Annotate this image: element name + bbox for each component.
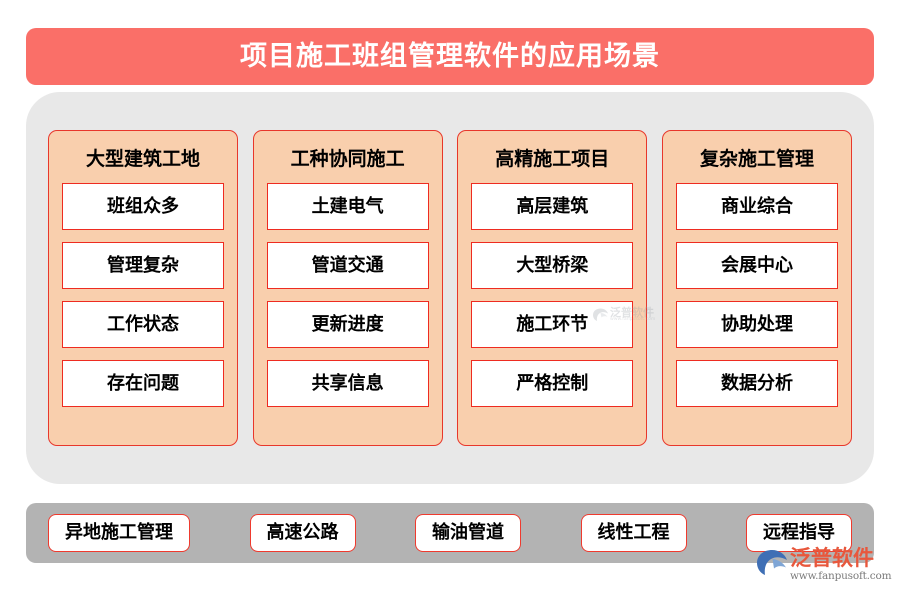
column-item-label: 严格控制 [516,375,588,393]
column-item-label: 高层建筑 [516,198,588,216]
column-item[interactable]: 共享信息 [267,360,429,407]
column-item[interactable]: 土建电气 [267,183,429,230]
bottom-tag-label: 高速公路 [267,524,339,542]
fanpu-swoosh-logo-icon [755,549,789,577]
brand-logo: 泛普软件 www.fanpusoft.com [755,547,895,595]
column-item-label: 大型桥梁 [516,257,588,275]
bottom-tag-label: 线性工程 [598,524,670,542]
column-item[interactable]: 管道交通 [267,242,429,289]
column-item-label: 施工环节 [516,316,588,334]
logo-url: www.fanpusoft.com [790,570,891,582]
column-item[interactable]: 工作状态 [62,301,224,348]
column-title: 大型建筑工地 [62,140,224,183]
scenario-column-3[interactable]: 高精施工项目 高层建筑 大型桥梁 施工环节 严格控制 [457,130,647,446]
column-item-list: 高层建筑 大型桥梁 施工环节 严格控制 [471,183,633,407]
logo-textblock: 泛普软件 www.fanpusoft.com [790,547,891,582]
column-item-list: 班组众多 管理复杂 工作状态 存在问题 [62,183,224,407]
page-title-bar: 项目施工班组管理软件的应用场景 [26,28,874,85]
column-title: 高精施工项目 [471,140,633,183]
scenario-column-1[interactable]: 大型建筑工地 班组众多 管理复杂 工作状态 存在问题 [48,130,238,446]
column-item[interactable]: 班组众多 [62,183,224,230]
column-item[interactable]: 更新进度 [267,301,429,348]
column-item-label: 共享信息 [312,375,384,393]
column-item-label: 商业综合 [721,198,793,216]
column-item-list: 商业综合 会展中心 协助处理 数据分析 [676,183,838,407]
column-item-label: 管理复杂 [107,257,179,275]
column-item[interactable]: 施工环节 [471,301,633,348]
bottom-tag-4[interactable]: 线性工程 [581,514,687,552]
column-item-label: 管道交通 [312,257,384,275]
page-title: 项目施工班组管理软件的应用场景 [240,43,660,70]
application-scenario-infographic: 项目施工班组管理软件的应用场景 大型建筑工地 班组众多 管理复杂 工作状态 [0,0,900,600]
column-item-label: 数据分析 [721,375,793,393]
column-item-list: 土建电气 管道交通 更新进度 共享信息 [267,183,429,407]
scenario-column-4[interactable]: 复杂施工管理 商业综合 会展中心 协助处理 数据分析 [662,130,852,446]
column-item-label: 班组众多 [107,198,179,216]
bottom-tag-label: 远程指导 [763,524,835,542]
column-item-label: 工作状态 [107,316,179,334]
column-item-label: 更新进度 [312,316,384,334]
main-panel: 大型建筑工地 班组众多 管理复杂 工作状态 存在问题 [26,92,874,484]
column-item[interactable]: 会展中心 [676,242,838,289]
column-title: 工种协同施工 [267,140,429,183]
bottom-tag-1[interactable]: 异地施工管理 [48,514,190,552]
bottom-tag-label: 异地施工管理 [65,524,173,542]
bottom-tag-3[interactable]: 输油管道 [415,514,521,552]
column-group: 大型建筑工地 班组众多 管理复杂 工作状态 存在问题 [48,130,852,446]
column-item[interactable]: 大型桥梁 [471,242,633,289]
bottom-tag-bar: 异地施工管理 高速公路 输油管道 线性工程 远程指导 [26,503,874,563]
column-title: 复杂施工管理 [676,140,838,183]
column-item[interactable]: 存在问题 [62,360,224,407]
bottom-tag-label: 输油管道 [432,524,504,542]
column-item[interactable]: 高层建筑 [471,183,633,230]
column-item-label: 会展中心 [721,257,793,275]
column-item[interactable]: 数据分析 [676,360,838,407]
column-item[interactable]: 严格控制 [471,360,633,407]
logo-name: 泛普软件 [790,547,891,569]
column-item-label: 协助处理 [721,316,793,334]
column-item-label: 存在问题 [107,375,179,393]
scenario-column-2[interactable]: 工种协同施工 土建电气 管道交通 更新进度 共享信息 [253,130,443,446]
column-item[interactable]: 协助处理 [676,301,838,348]
column-item[interactable]: 管理复杂 [62,242,224,289]
bottom-tag-2[interactable]: 高速公路 [250,514,356,552]
column-item[interactable]: 商业综合 [676,183,838,230]
column-item-label: 土建电气 [312,198,384,216]
